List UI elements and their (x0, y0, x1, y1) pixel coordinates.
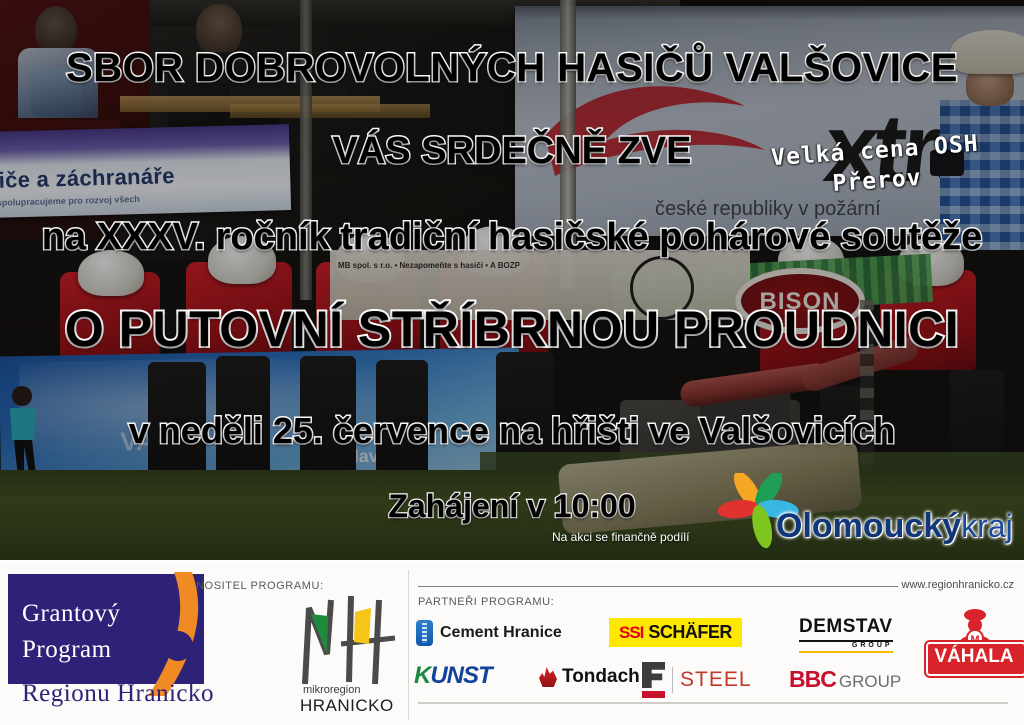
kraj-word: kraj (961, 508, 1013, 544)
demstav-yellow-rule (799, 651, 893, 653)
e-steel-red-bar (642, 691, 665, 698)
mikroregion-line-1: mikroregion (303, 684, 360, 696)
grant-program-line-3: Regionu Hranicko (22, 680, 214, 708)
olomoucky-word: Olomoucký (776, 507, 961, 545)
kunst-label: KUNST (414, 662, 492, 690)
headline-line-1: SBOR DOBROVOLNÝCH HASIČŮ VALŠOVICE (0, 46, 1024, 91)
partner-logo-vahala[interactable]: M VÁHALA (926, 608, 1022, 680)
partner-logo-demstav[interactable]: DEMSTAV GROUP (799, 616, 893, 653)
sponsor-bar-divider (408, 570, 409, 720)
vahala-label: VÁHALA (926, 646, 1022, 668)
cement-hranice-icon (416, 620, 433, 646)
e-steel-label: STEEL (680, 668, 752, 692)
headline-layer: SBOR DOBROVOLNÝCH HASIČŮ VALŠOVICE VÁS S… (0, 0, 1024, 560)
demstav-sub-label: GROUP (799, 642, 893, 649)
ssi-label: SSI (619, 623, 643, 643)
carrier-label: NOSITEL PROGRAMU: (196, 580, 324, 592)
kunst-k: K (414, 662, 430, 689)
e-steel-e-icon (642, 662, 665, 688)
funding-note: Na akci se finančně podílí (552, 530, 689, 544)
bbc-label: BBC (789, 666, 836, 693)
grant-program-line-1: Grantový (22, 600, 120, 628)
partners-bottom-rule (418, 702, 1008, 704)
sponsor-bar: Grantový Program Regionu Hranicko NOSITE… (0, 560, 1024, 725)
partner-logo-tondach[interactable]: Tondach (539, 666, 640, 688)
headline-line-5-date: v neděli 25. července na hřišti ve Valšo… (0, 410, 1024, 452)
olomoucky-kraj-text: Olomouckýkraj (776, 507, 1013, 546)
mikroregion-hranicko-logo-icon (297, 592, 399, 687)
partner-logo-e-steel[interactable]: STEEL (642, 662, 752, 698)
partners-label: PARTNEŘI PROGRAMU: (418, 596, 554, 608)
tondach-label: Tondach (562, 666, 640, 688)
schafer-label: SCHÄFER (648, 622, 732, 643)
headline-line-4-title: O PUTOVNÍ STŘÍBRNOU PROUDNICI (0, 300, 1024, 358)
demstav-label: DEMSTAV (799, 616, 893, 638)
cement-hranice-label: Cement Hranice (440, 624, 562, 642)
tondach-flame-icon (539, 667, 557, 687)
partner-logos: Cement Hranice SSI SCHÄFER DEMSTAV GROUP… (414, 614, 1014, 700)
bbc-group-label: GROUP (839, 672, 901, 692)
partner-logo-ssi-schafer[interactable]: SSI SCHÄFER (609, 618, 742, 647)
partner-logo-kunst[interactable]: KUNST (414, 662, 492, 690)
mikroregion-line-2: HRANICKO (300, 696, 394, 716)
e-steel-mark (642, 662, 665, 698)
website-link[interactable]: www.regionhranicko.cz (902, 579, 1015, 591)
headline-line-3: na XXXV. ročník tradiční hasičské poháro… (0, 216, 1024, 259)
partner-logo-cement-hranice[interactable]: Cement Hranice (416, 620, 562, 646)
poster-root: xtra české republiky v požární siče a zá… (0, 0, 1024, 725)
olomoucky-kraj-logo: Olomouckýkraj (718, 473, 1018, 551)
grant-program-line-2: Program (22, 636, 112, 664)
e-steel-separator (672, 667, 673, 693)
partner-logo-bbc-group[interactable]: BBC GROUP (789, 666, 901, 693)
kunst-rest: UNST (430, 662, 491, 689)
partners-top-rule (418, 586, 898, 587)
